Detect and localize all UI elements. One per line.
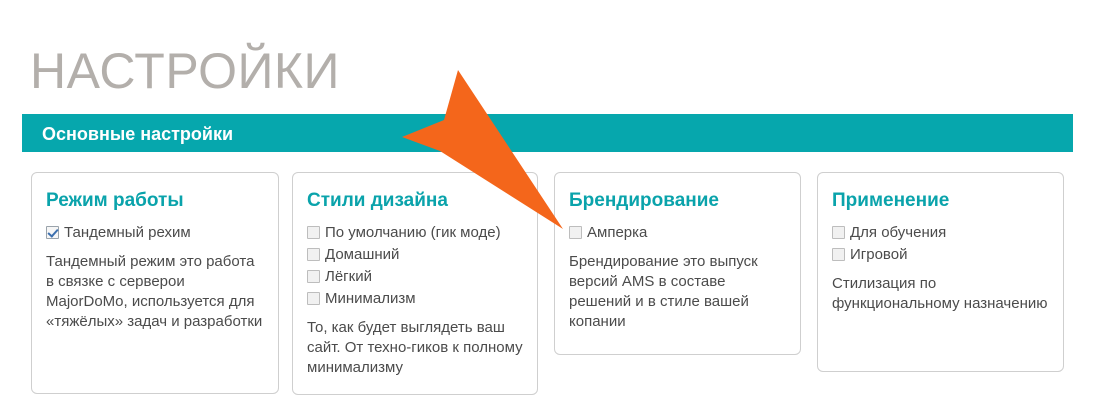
option-list: Для обучения Игровой xyxy=(832,223,1049,264)
option-list: Амперка xyxy=(569,223,786,242)
checkbox-label: Для обучения xyxy=(850,223,946,242)
settings-card-rezhim-raboty: Режим работы Тандемный рехим Тандемный р… xyxy=(31,172,279,394)
checkbox-row[interactable]: По умолчанию (гик моде) xyxy=(307,223,523,242)
checkbox-icon[interactable] xyxy=(832,226,845,239)
card-title: Режим работы xyxy=(46,189,264,213)
card-description: То, как будет выглядеть ваш сайт. От тех… xyxy=(307,318,523,378)
checkbox-icon[interactable] xyxy=(569,226,582,239)
settings-card-primenenie: Применение Для обучения Игровой Стилизац… xyxy=(817,172,1064,372)
checkbox-label: Амперка xyxy=(587,223,647,242)
checkbox-row[interactable]: Для обучения xyxy=(832,223,1049,242)
checkbox-icon[interactable] xyxy=(307,270,320,283)
checkbox-label: Лёгкий xyxy=(325,267,372,286)
checkbox-label: Игровой xyxy=(850,245,907,264)
checkbox-icon[interactable] xyxy=(832,248,845,261)
option-list: Тандемный рехим xyxy=(46,223,264,242)
checkbox-label: Тандемный рехим xyxy=(64,223,191,242)
checkbox-row[interactable]: Лёгкий xyxy=(307,267,523,286)
card-title: Брендирование xyxy=(569,189,786,213)
settings-card-stili-dizayna: Стили дизайна По умолчанию (гик моде) До… xyxy=(292,172,538,395)
card-title: Стили дизайна xyxy=(307,189,523,213)
checkbox-label: Минимализм xyxy=(325,289,416,308)
checkbox-icon[interactable] xyxy=(307,248,320,261)
card-description: Стилизация по функциональному назначению xyxy=(832,274,1049,314)
card-title: Применение xyxy=(832,189,1049,213)
checkbox-row[interactable]: Минимализм xyxy=(307,289,523,308)
checkbox-label: По умолчанию (гик моде) xyxy=(325,223,501,242)
option-list: По умолчанию (гик моде) Домашний Лёгкий … xyxy=(307,223,523,308)
checkbox-icon[interactable] xyxy=(307,226,320,239)
checkbox-icon[interactable] xyxy=(307,292,320,305)
card-description: Брендирование это выпуск версий AMS в со… xyxy=(569,252,786,332)
card-description: Тандемный режим это работа в связке с се… xyxy=(46,252,264,332)
checkbox-row[interactable]: Амперка xyxy=(569,223,786,242)
checkbox-row[interactable]: Домашний xyxy=(307,245,523,264)
checkbox-row[interactable]: Тандемный рехим xyxy=(46,223,264,242)
checkbox-icon[interactable] xyxy=(46,226,59,239)
settings-cards-row: Режим работы Тандемный рехим Тандемный р… xyxy=(0,0,1093,407)
settings-card-brendirovanie: Брендирование Амперка Брендирование это … xyxy=(554,172,801,355)
checkbox-label: Домашний xyxy=(325,245,399,264)
settings-page: НАСТРОЙКИ Основные настройки Режим работ… xyxy=(0,0,1093,407)
checkbox-row[interactable]: Игровой xyxy=(832,245,1049,264)
